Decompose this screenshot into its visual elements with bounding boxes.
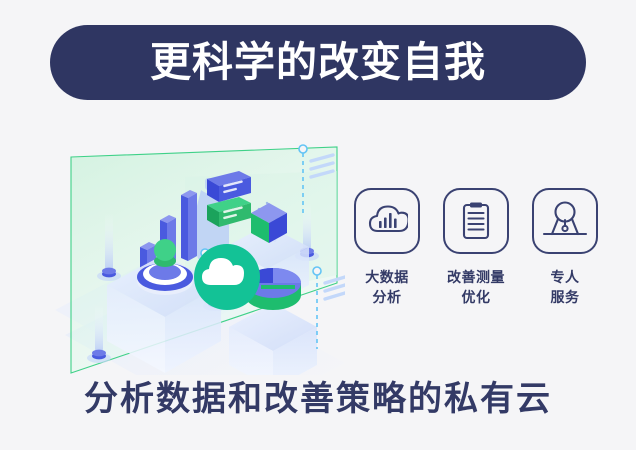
title-banner: 更科学的改变自我 xyxy=(50,25,586,100)
page-title: 更科学的改变自我 xyxy=(150,42,486,83)
feature-label-line1: 专人 xyxy=(551,267,580,287)
feature-dedicated-service[interactable]: 专人 服务 xyxy=(526,188,604,338)
feature-label-improvement-measurement: 改善测量 优化 xyxy=(447,267,505,307)
page-tagline: 分析数据和改善策略的私有云 xyxy=(0,382,636,416)
feature-big-data-analysis[interactable]: 大数据 分析 xyxy=(348,188,426,338)
isometric-illustration xyxy=(55,135,345,375)
feature-label-line1: 改善测量 xyxy=(447,267,505,287)
feature-label-line1: 大数据 xyxy=(365,267,409,287)
support-agent-icon-frame xyxy=(532,188,598,254)
feature-improvement-measurement[interactable]: 改善测量 优化 xyxy=(437,188,515,338)
support-agent-icon xyxy=(542,198,588,244)
cloud-bar-chart-icon-frame xyxy=(354,188,420,254)
feature-label-line2: 服务 xyxy=(551,287,580,307)
feature-label-big-data-analysis: 大数据 分析 xyxy=(365,267,409,307)
clipboard-icon xyxy=(455,200,497,242)
feature-list: 大数据 分析 改善测量 优化 xyxy=(348,188,604,338)
cloud-badge xyxy=(194,244,260,310)
cloud-bar-chart-icon xyxy=(366,200,408,242)
clipboard-icon-frame xyxy=(443,188,509,254)
feature-label-line2: 分析 xyxy=(365,287,409,307)
promo-banner-page: 更科学的改变自我 xyxy=(0,0,636,450)
feature-label-dedicated-service: 专人 服务 xyxy=(551,267,580,307)
feature-label-line2: 优化 xyxy=(447,287,505,307)
